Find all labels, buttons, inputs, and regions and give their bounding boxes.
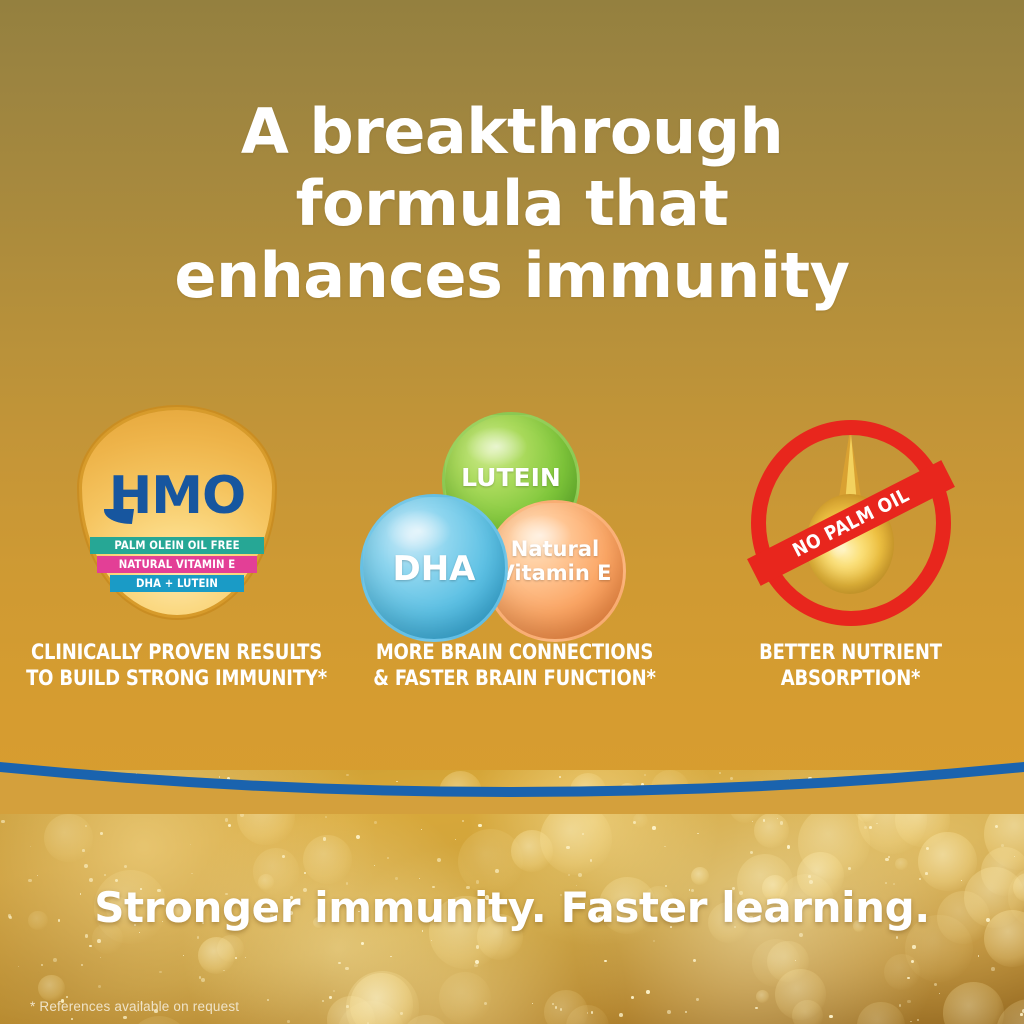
bokeh-sparkle (374, 865, 375, 866)
promotional-banner: A breakthrough formula that enhances imm… (0, 0, 1024, 1024)
bokeh-sparkle (191, 873, 192, 874)
hmo-stripe-group: PALM OLEIN OIL FREE NATURAL VITAMIN E DH… (82, 537, 272, 594)
bokeh-circle (756, 990, 769, 1003)
bokeh-sparkle (323, 837, 326, 840)
bokeh-sparkle (437, 858, 441, 862)
bokeh-sparkle (991, 967, 995, 971)
bokeh-sparkle (66, 996, 68, 998)
bubble-label-line-2: Vitamin E (499, 561, 612, 585)
bokeh-circle (38, 975, 64, 1001)
bokeh-sparkle (82, 849, 85, 852)
bokeh-sparkle (201, 978, 205, 982)
bokeh-sparkle (912, 945, 915, 948)
bokeh-sparkle (532, 1003, 533, 1004)
bokeh-sparkle (287, 1020, 290, 1023)
bokeh-sparkle (495, 869, 499, 873)
bokeh-sparkle (89, 945, 91, 947)
bokeh-sparkle (1, 820, 5, 824)
bokeh-sparkle (235, 957, 237, 959)
bokeh-sparkle (100, 957, 101, 958)
bokeh-sparkle (910, 1021, 912, 1023)
bokeh-sparkle (631, 996, 634, 999)
bokeh-sparkle (652, 826, 656, 830)
bokeh-sparkle (123, 1016, 126, 1019)
bokeh-sparkle (869, 826, 872, 829)
feature-caption-line-2: TO BUILD STRONG IMMUNITY* (18, 666, 335, 692)
tagline: Stronger immunity. Faster learning. (0, 884, 1024, 932)
bokeh-sparkle (780, 821, 784, 825)
bubble-label: DHA (363, 549, 505, 589)
bokeh-sparkle (159, 971, 162, 974)
bokeh-sparkle (685, 1011, 686, 1012)
bokeh-sparkle (693, 959, 696, 962)
bokeh-sparkle (664, 846, 665, 847)
bokeh-sparkle (763, 819, 766, 822)
bokeh-sparkle (28, 879, 31, 882)
bokeh-sparkle (41, 964, 43, 966)
bokeh-circle (439, 972, 492, 1024)
feature-caption-line-2: ABSORPTION* (692, 666, 1009, 692)
bokeh-sparkle (18, 966, 19, 967)
hmo-stripe: NATURAL VITAMIN E (97, 556, 257, 573)
bokeh-sparkle (30, 846, 31, 847)
bokeh-sparkle (97, 939, 101, 943)
bokeh-sparkle (267, 999, 269, 1001)
bokeh-sparkle (619, 1013, 623, 1017)
bokeh-sparkle (197, 936, 199, 938)
bokeh-sparkle (85, 825, 87, 827)
headline-line-1: A breakthrough (0, 96, 1024, 168)
bokeh-sparkle (925, 872, 928, 875)
bokeh-circle (857, 1002, 904, 1024)
bokeh-sparkle (653, 940, 655, 942)
bokeh-sparkle (345, 967, 349, 971)
feature-caption: CLINICALLY PROVEN RESULTS TO BUILD STRON… (18, 640, 335, 692)
bokeh-sparkle (896, 936, 899, 939)
bokeh-sparkle (282, 855, 285, 858)
bokeh-sparkle (338, 962, 340, 964)
bokeh-sparkle (228, 824, 232, 828)
feature-nutrients: LUTEIN Natural Vitamin E DHA MORE BRAIN … (344, 408, 685, 708)
bokeh-sparkle (566, 846, 569, 849)
bubbles-art: LUTEIN Natural Vitamin E DHA (344, 408, 685, 636)
bokeh-sparkle (85, 934, 88, 937)
bokeh-sparkle (400, 1012, 402, 1014)
bokeh-sparkle (71, 1018, 73, 1020)
bokeh-sparkle (646, 990, 650, 994)
bokeh-circle (44, 814, 93, 863)
bokeh-sparkle (84, 864, 88, 868)
bokeh-sparkle (750, 851, 753, 854)
bokeh-sparkle (476, 945, 480, 949)
feature-no-palm-oil: NO PALM OIL BETTER NUTRIENT ABSORPTION* (680, 408, 1021, 708)
bokeh-sparkle (98, 985, 101, 988)
bokeh-sparkle (124, 865, 127, 868)
bokeh-sparkle (183, 955, 184, 956)
bokeh-sparkle (419, 878, 420, 879)
bokeh-sparkle (421, 829, 422, 830)
bokeh-sparkle (1020, 1013, 1023, 1016)
bokeh-sparkle (864, 826, 867, 829)
divider-svg (0, 744, 1024, 814)
bokeh-circle (943, 982, 1004, 1024)
bokeh-sparkle (53, 958, 57, 962)
bokeh-sparkle (387, 857, 389, 859)
bokeh-sparkle (582, 833, 584, 835)
bokeh-sparkle (752, 821, 753, 822)
feature-caption-line-2: & FASTER BRAIN FUNCTION* (356, 666, 673, 692)
bokeh-sparkle (395, 877, 398, 880)
prohibition-badge-icon: NO PALM OIL (746, 412, 956, 634)
bokeh-sparkle (911, 960, 914, 963)
bokeh-circle (303, 835, 352, 884)
bokeh-sparkle (329, 996, 331, 998)
feature-caption: BETTER NUTRIENT ABSORPTION* (692, 640, 1009, 692)
bokeh-circle (754, 813, 789, 848)
hmo-stripe: DHA + LUTEIN (110, 575, 244, 592)
bokeh-sparkle (462, 820, 464, 822)
bokeh-sparkle (356, 835, 360, 839)
bokeh-sparkle (578, 873, 582, 877)
bokeh-sparkle (939, 993, 940, 994)
bokeh-sparkle (304, 872, 307, 875)
bokeh-sparkle (225, 818, 228, 821)
bokeh-sparkle (478, 824, 481, 827)
bokeh-sparkle (667, 1010, 671, 1014)
feature-caption: MORE BRAIN CONNECTIONS & FASTER BRAIN FU… (356, 640, 673, 692)
bokeh-sparkle (919, 878, 921, 880)
footnote: * References available on request (30, 999, 239, 1015)
bokeh-sparkle (100, 832, 103, 835)
bokeh-sparkle (591, 1011, 594, 1014)
bokeh-sparkle (325, 816, 327, 818)
curved-divider (0, 744, 1024, 814)
bokeh-sparkle (568, 874, 570, 876)
hmo-badge-art: HMO PALM OLEIN OIL FREE NATURAL VITAMIN … (6, 408, 347, 636)
bokeh-sparkle (361, 942, 364, 945)
bokeh-sparkle (978, 955, 980, 957)
bokeh-sparkle (245, 957, 246, 958)
bokeh-sparkle (322, 1000, 324, 1002)
bokeh-sparkle (808, 875, 811, 878)
bokeh-circle (918, 832, 977, 891)
headline-line-2: formula that (0, 168, 1024, 240)
feature-caption-line-1: MORE BRAIN CONNECTIONS (356, 640, 673, 666)
page-title: A breakthrough formula that enhances imm… (0, 96, 1024, 312)
bokeh-sparkle (934, 983, 937, 986)
bokeh-sparkle (799, 933, 803, 937)
hmo-stripe: PALM OLEIN OIL FREE (90, 537, 264, 554)
bokeh-sparkle (374, 821, 377, 824)
bokeh-circle (128, 1016, 190, 1024)
bokeh-sparkle (81, 964, 83, 966)
bokeh-sparkle (455, 839, 456, 840)
bokeh-sparkle (907, 1000, 911, 1004)
bokeh-sparkle (777, 818, 778, 819)
bokeh-sparkle (899, 1004, 901, 1006)
hmo-badge-content: HMO PALM OLEIN OIL FREE NATURAL VITAMIN … (82, 410, 272, 615)
bokeh-sparkle (89, 878, 93, 882)
bokeh-sparkle (696, 998, 698, 1000)
bokeh-sparkle (37, 875, 38, 876)
bokeh-sparkle (755, 1007, 757, 1009)
bokeh-sparkle (590, 859, 592, 861)
feature-hmo: HMO PALM OLEIN OIL FREE NATURAL VITAMIN … (6, 408, 347, 708)
feature-row: HMO PALM OLEIN OIL FREE NATURAL VITAMIN … (0, 408, 1024, 708)
headline-line-3: enhances immunity (0, 240, 1024, 312)
bokeh-circle (198, 937, 235, 974)
bokeh-sparkle (484, 1002, 487, 1005)
bubble-group: LUTEIN Natural Vitamin E DHA (344, 408, 685, 636)
bubble-dha-icon: DHA (360, 494, 508, 642)
feature-caption-line-1: CLINICALLY PROVEN RESULTS (18, 640, 335, 666)
bokeh-sparkle (829, 1015, 833, 1019)
bokeh-sparkle (1001, 844, 1004, 847)
bokeh-sparkle (555, 1006, 558, 1009)
bokeh-sparkle (795, 960, 796, 961)
bokeh-sparkle (390, 956, 392, 958)
bokeh-sparkle (104, 874, 106, 876)
bokeh-sparkle (346, 1005, 349, 1008)
bokeh-circle (775, 969, 826, 1020)
bokeh-sparkle (333, 990, 335, 992)
bokeh-sparkle (885, 858, 888, 861)
bokeh-sparkle (787, 845, 791, 849)
feature-caption-line-1: BETTER NUTRIENT (692, 640, 1009, 666)
bokeh-sparkle (961, 880, 962, 881)
bubble-label: LUTEIN (445, 463, 577, 492)
bokeh-sparkle (604, 960, 607, 963)
bokeh-sparkle (190, 844, 191, 845)
bokeh-circle (895, 858, 907, 870)
bokeh-sparkle (697, 833, 699, 835)
bokeh-sparkle (917, 1019, 919, 1021)
bokeh-sparkle (995, 825, 998, 828)
bubble-label-line-1: Natural (511, 537, 599, 561)
no-palm-oil-art: NO PALM OIL (680, 408, 1021, 636)
